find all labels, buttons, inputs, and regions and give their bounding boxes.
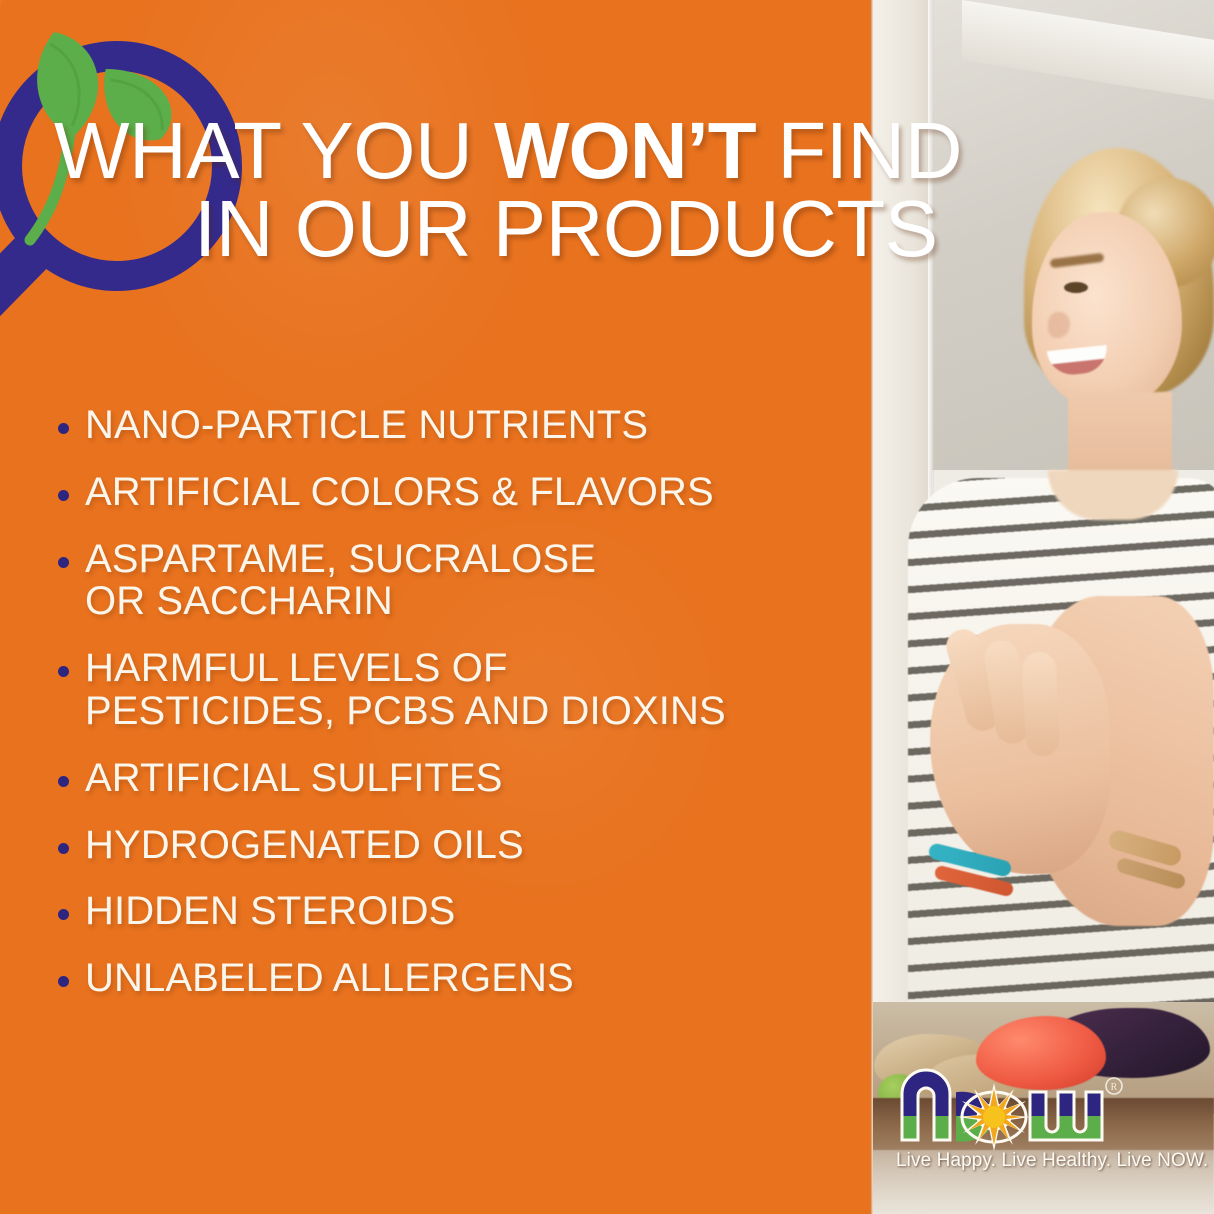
headline-line2: IN OUR PRODUCTS bbox=[54, 190, 1174, 268]
list-item: ARTIFICIAL SULFITES bbox=[58, 757, 868, 800]
list-item: HYDROGENATED OILS bbox=[58, 824, 868, 867]
list-item-line: NANO-PARTICLE NUTRIENTS bbox=[85, 404, 648, 447]
list-item-text: ARTIFICIAL SULFITES bbox=[85, 757, 503, 800]
registered-trademark-icon: R bbox=[1106, 1078, 1122, 1094]
list-item: HARMFUL LEVELS OF PESTICIDES, PCBS AND D… bbox=[58, 647, 868, 733]
list-item: ASPARTAME, SUCRALOSE OR SACCHARIN bbox=[58, 538, 868, 624]
photo-eye bbox=[1064, 282, 1088, 293]
list-item-text: HYDROGENATED OILS bbox=[85, 824, 524, 867]
headline-part2: FIND bbox=[756, 106, 962, 195]
list-item: UNLABELED ALLERGENS bbox=[58, 957, 868, 1000]
excluded-ingredients-list: NANO-PARTICLE NUTRIENTS ARTIFICIAL COLOR… bbox=[58, 404, 868, 1024]
bullet-dot-icon bbox=[58, 557, 69, 568]
list-item-line: ASPARTAME, SUCRALOSE bbox=[85, 538, 596, 581]
list-item-text: UNLABELED ALLERGENS bbox=[85, 957, 574, 1000]
headline-part1: WHAT YOU bbox=[54, 106, 494, 195]
photo-finger bbox=[1021, 651, 1060, 757]
marketing-graphic: WHAT YOU WON’T FIND IN OUR PRODUCTS NANO… bbox=[0, 0, 1214, 1214]
page-title: WHAT YOU WON’T FIND IN OUR PRODUCTS bbox=[54, 112, 1174, 269]
bullet-dot-icon bbox=[58, 776, 69, 787]
list-item-line: HYDROGENATED OILS bbox=[85, 824, 524, 867]
list-item-line: ARTIFICIAL COLORS & FLAVORS bbox=[85, 471, 714, 514]
list-item-line: HIDDEN STEROIDS bbox=[85, 890, 455, 933]
list-item: HIDDEN STEROIDS bbox=[58, 890, 868, 933]
bullet-dot-icon bbox=[58, 976, 69, 987]
list-item-text: HARMFUL LEVELS OF PESTICIDES, PCBS AND D… bbox=[85, 647, 726, 733]
list-item: NANO-PARTICLE NUTRIENTS bbox=[58, 404, 868, 447]
list-item-line: HARMFUL LEVELS OF bbox=[85, 647, 726, 690]
bullet-dot-icon bbox=[58, 490, 69, 501]
bullet-dot-icon bbox=[58, 843, 69, 854]
bullet-dot-icon bbox=[58, 909, 69, 920]
list-item-line: ARTIFICIAL SULFITES bbox=[85, 757, 503, 800]
list-item-line: PESTICIDES, PCBS AND DIOXINS bbox=[85, 690, 726, 733]
list-item-text: HIDDEN STEROIDS bbox=[85, 890, 455, 933]
list-item-line: OR SACCHARIN bbox=[85, 580, 596, 623]
list-item: ARTIFICIAL COLORS & FLAVORS bbox=[58, 471, 868, 514]
logo-letter-w bbox=[1024, 1060, 1110, 1160]
brand-tagline: Live Happy. Live Healthy. Live NOW. bbox=[896, 1150, 1136, 1172]
list-item-text: ARTIFICIAL COLORS & FLAVORS bbox=[85, 471, 714, 514]
bullet-dot-icon bbox=[58, 423, 69, 434]
svg-text:R: R bbox=[1111, 1082, 1118, 1093]
bullet-dot-icon bbox=[58, 666, 69, 677]
list-item-text: ASPARTAME, SUCRALOSE OR SACCHARIN bbox=[85, 538, 596, 624]
list-item-text: NANO-PARTICLE NUTRIENTS bbox=[85, 404, 648, 447]
list-item-line: UNLABELED ALLERGENS bbox=[85, 957, 574, 1000]
now-logo: R bbox=[898, 1060, 1128, 1160]
headline-emphasis: WON’T bbox=[494, 106, 756, 195]
